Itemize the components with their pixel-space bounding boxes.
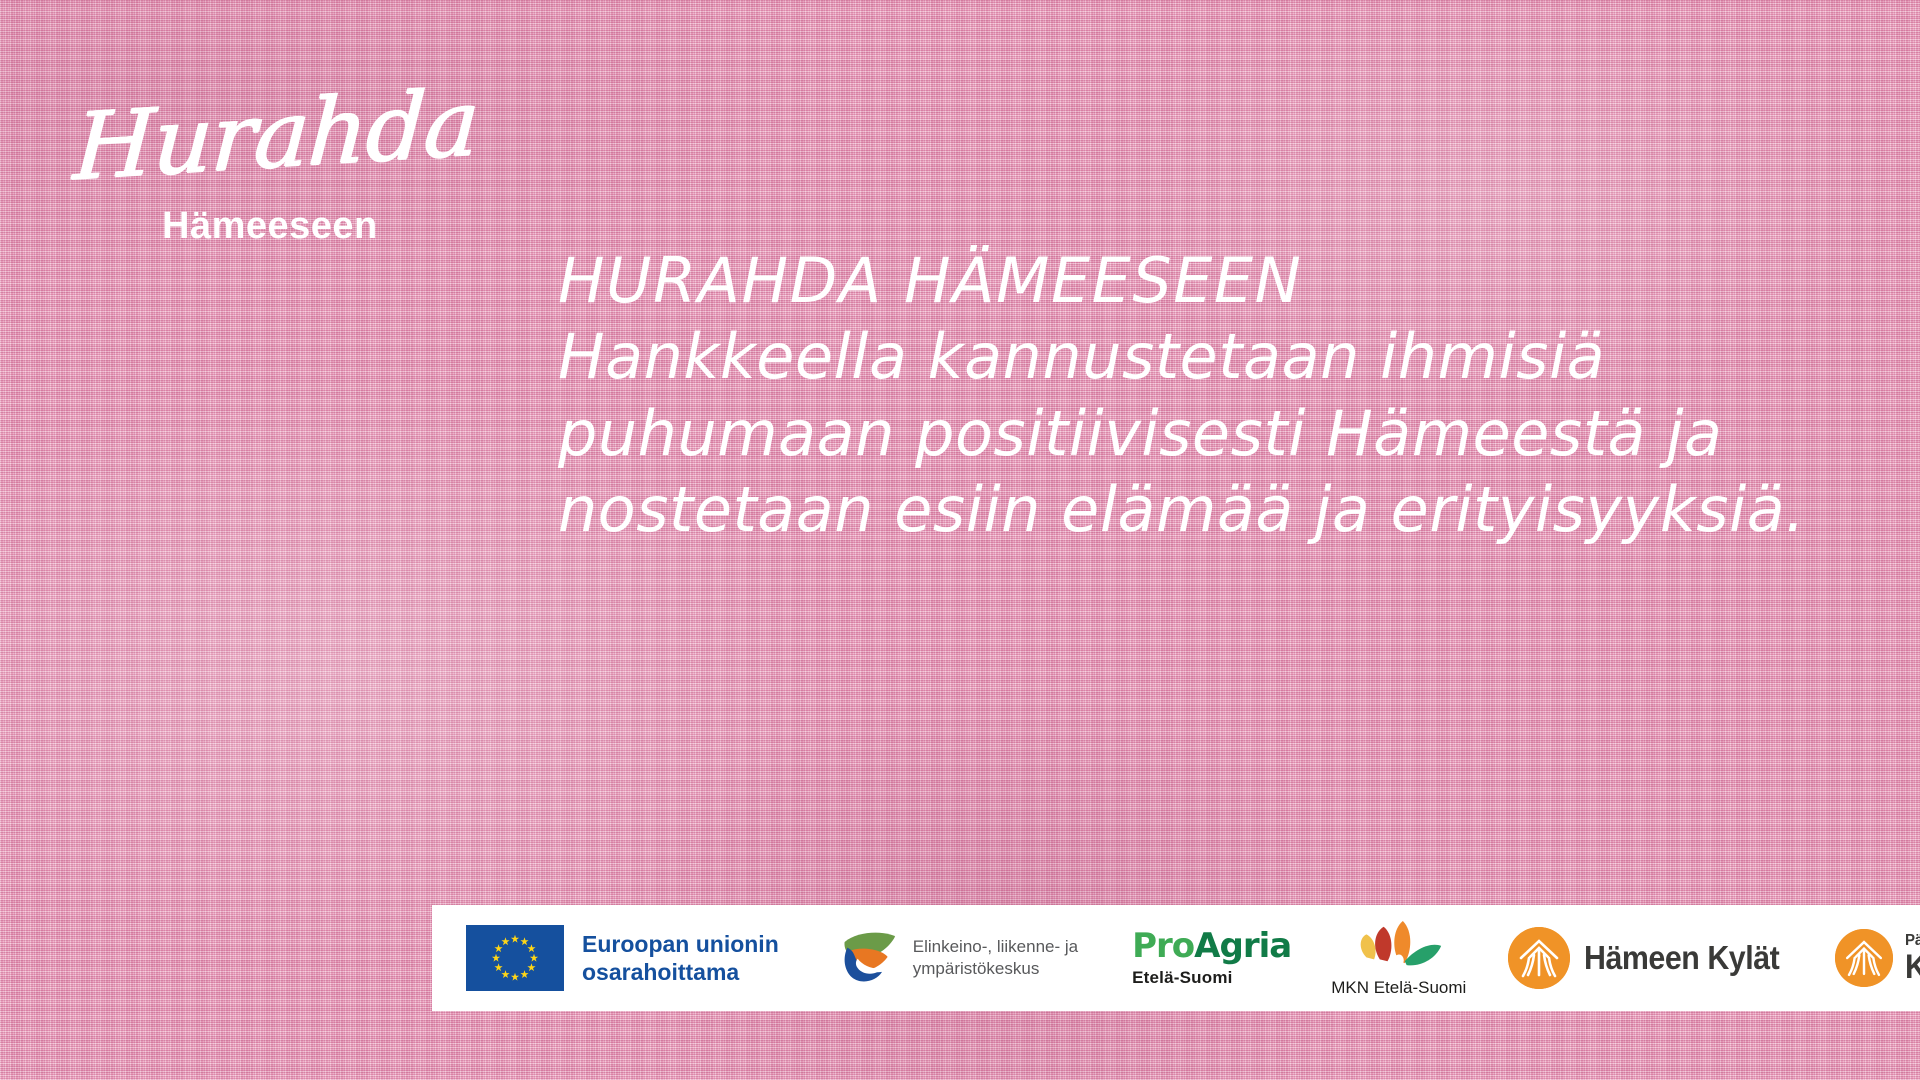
eu-flag-icon [466, 925, 564, 991]
brand-subtitle: Hämeeseen [162, 205, 472, 248]
poster-canvas: Hurahda Hämeeseen HURAHDA HÄMEESEEN Hank… [0, 0, 1920, 1080]
eu-label-line1: Euroopan unionin [582, 930, 779, 958]
logo-proagria: ProAgria Etelä-Suomi [1132, 905, 1291, 1011]
proagria-wordmark: ProAgria [1132, 929, 1291, 963]
mkn-flower-icon [1353, 919, 1445, 974]
brand-script-wordmark: Hurahda [72, 79, 481, 192]
logo-ely-keskus: Elinkeino-, liikenne- ja ympäristökeskus [835, 905, 1078, 1011]
eu-label-line2: osarahoittama [582, 958, 779, 986]
logo-european-union: Euroopan unionin osarahoittama [466, 905, 779, 1011]
mkn-label: MKN Etelä-Suomi [1331, 978, 1466, 998]
proagria-word-pro: Pro [1132, 926, 1194, 966]
proagria-region-label: Etelä-Suomi [1132, 968, 1232, 988]
paijat-hameen-kylat-house-icon [1835, 929, 1893, 987]
logo-paijat-hameen-kylat: Päijät-Hämeen Kylät [1835, 905, 1920, 1011]
logo-hameen-kylat: Hämeen Kylät [1508, 905, 1796, 1011]
partner-logo-bar: Euroopan unionin osarahoittama Elinkeino… [432, 905, 1920, 1011]
copy-line-title: HURAHDA HÄMEESEEN [558, 243, 1858, 319]
hameen-kylat-label: Hämeen Kylät [1584, 939, 1779, 977]
paijat-hameen-kylat-label: Päijät-Hämeen Kylät [1905, 932, 1920, 985]
hameen-kylat-house-icon [1508, 927, 1570, 989]
logo-mkn: MKN Etelä-Suomi [1331, 905, 1466, 1011]
ely-label-line2: ympäristökeskus [913, 958, 1078, 980]
ely-leaf-icon [835, 927, 901, 990]
headline-copy-block: HURAHDA HÄMEESEEN Hankkeella kannustetaa… [558, 243, 1858, 548]
eu-label: Euroopan unionin osarahoittama [582, 930, 779, 986]
ely-label: Elinkeino-, liikenne- ja ympäristökeskus [913, 936, 1078, 980]
copy-line-3: nostetaan esiin elämää ja erityisyyksiä. [558, 472, 1858, 548]
proagria-word-agria: Agria [1194, 926, 1291, 966]
copy-line-2: puhumaan positiivisesti Hämeestä ja [558, 396, 1858, 472]
ely-label-line1: Elinkeino-, liikenne- ja [913, 936, 1078, 958]
brand-lockup: Hurahda Hämeeseen [72, 104, 472, 248]
paijat-hameen-kylat-label-bottom: Kylät [1905, 950, 1920, 985]
copy-line-1: Hankkeella kannustetaan ihmisiä [558, 319, 1858, 395]
